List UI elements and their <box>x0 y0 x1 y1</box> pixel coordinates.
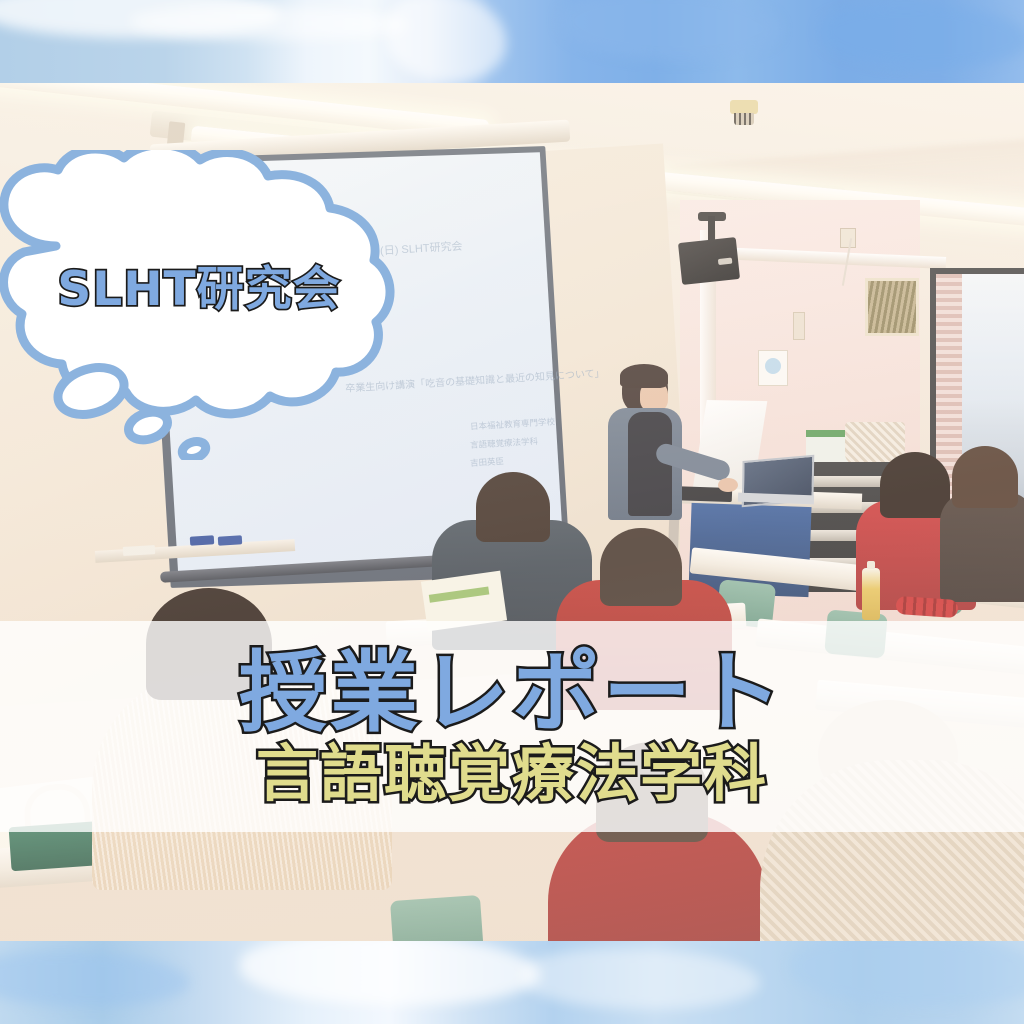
sprinkler-icon <box>730 100 758 114</box>
whiteboard-marker <box>218 535 242 545</box>
wall-vent <box>865 278 919 336</box>
instructor-hair <box>620 364 668 388</box>
student-head <box>476 472 550 542</box>
badge-label: SLHT研究会 <box>14 250 384 319</box>
student-head <box>952 446 1018 508</box>
bottom-decorative-band <box>0 941 1024 1024</box>
light-switch <box>793 312 805 340</box>
instructor-hand <box>718 478 738 492</box>
wall-sign <box>758 350 788 386</box>
ceiling-projector <box>678 237 740 285</box>
title-block: 授業レポート 言語聴覚療法学科 <box>0 621 1024 832</box>
slide-line-5: 吉田英臣 <box>470 455 505 469</box>
thought-bubble-badge: SLHT研究会 <box>0 150 416 460</box>
drink-bottle <box>862 568 880 620</box>
whiteboard-marker <box>190 535 214 545</box>
poster-canvas: (日) SLHT研究会 卒業生向け講演「吃音の基礎知識と最近の知見について」 日… <box>0 0 1024 1024</box>
whiteboard-eraser <box>123 545 155 556</box>
top-decorative-band <box>0 0 1024 83</box>
page-title: 授業レポート <box>239 648 785 738</box>
student-head <box>600 528 682 606</box>
student-body <box>940 492 1024 602</box>
projector-rod <box>708 216 715 242</box>
page-subtitle: 言語聴覚療法学科 <box>256 742 768 805</box>
student-head <box>880 452 950 518</box>
